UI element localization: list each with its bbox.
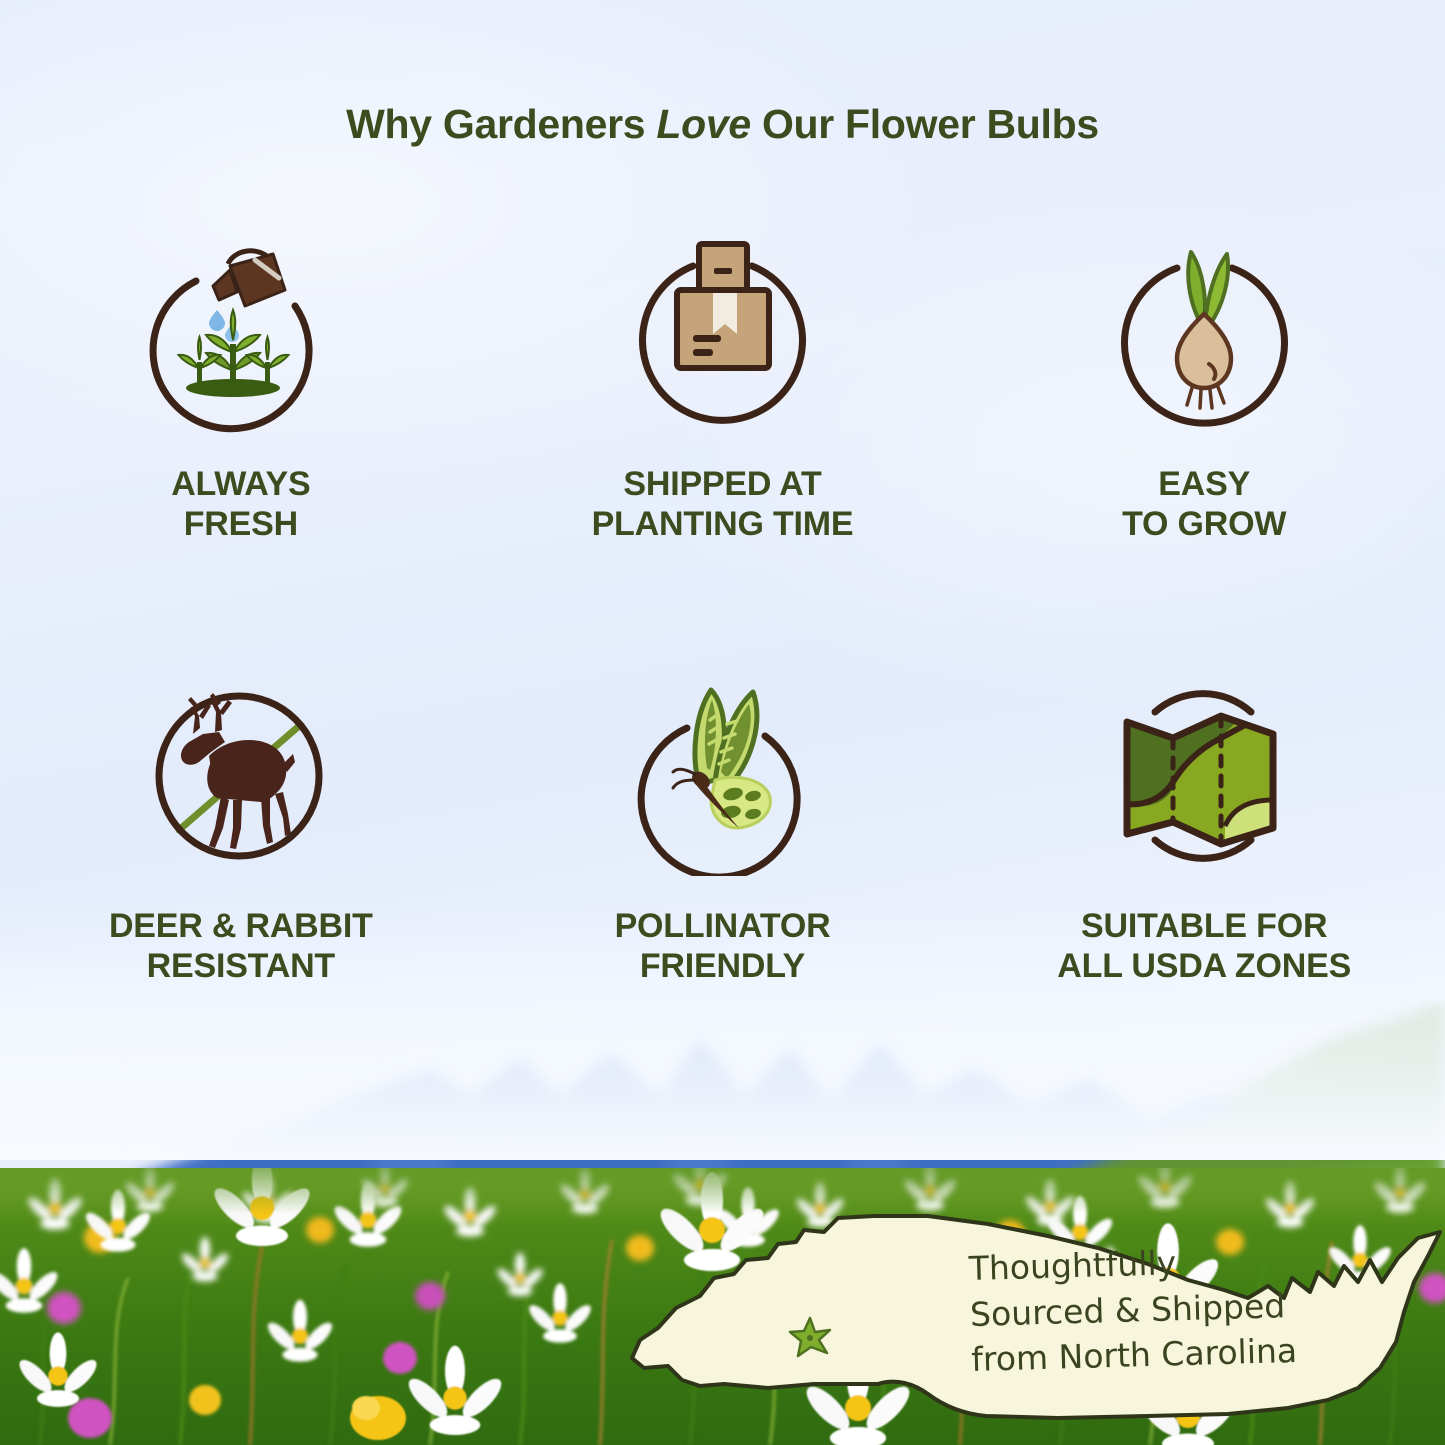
no-deer-icon — [133, 676, 348, 876]
benefit-label: ALWAYS FRESH — [171, 464, 310, 544]
benefit-label: DEER & RABBIT RESISTANT — [109, 906, 373, 986]
benefits-row-top: ALWAYS FRESH — [0, 236, 1445, 544]
benefit-label: SUITABLE FOR ALL USDA ZONES — [1057, 906, 1351, 986]
benefit-item-suitable-usda-zones: SUITABLE FOR ALL USDA ZONES — [963, 676, 1445, 986]
banner-text: Thoughtfully Sourced & Shipped from Nort… — [968, 1234, 1402, 1383]
north-carolina-banner: Thoughtfully Sourced & Shipped from Nort… — [628, 1208, 1445, 1445]
benefits-row-bottom: DEER & RABBIT RESISTANT — [0, 676, 1445, 986]
headline-part-1: Why Gardeners — [346, 101, 656, 147]
benefit-label: EASY TO GROW — [1122, 464, 1286, 544]
watering-can-plants-icon — [133, 236, 348, 436]
headline-part-2: Our Flower Bulbs — [751, 101, 1099, 147]
page-title: Why Gardeners Love Our Flower Bulbs — [0, 101, 1445, 148]
benefits-grid: ALWAYS FRESH — [0, 236, 1445, 986]
benefit-item-deer-rabbit-resistant: DEER & RABBIT RESISTANT — [0, 676, 482, 986]
headline-emphasis: Love — [656, 101, 751, 147]
sprouting-bulb-icon — [1097, 236, 1312, 436]
shipping-box-icon — [615, 236, 830, 436]
promo-poster: Why Gardeners Love Our Flower Bulbs — [0, 0, 1445, 1445]
benefit-item-easy-to-grow: EASY TO GROW — [963, 236, 1445, 544]
benefit-label: SHIPPED AT PLANTING TIME — [592, 464, 854, 544]
folded-map-icon — [1097, 676, 1312, 876]
benefit-item-shipped-at-planting-time: SHIPPED AT PLANTING TIME — [482, 236, 964, 544]
benefit-item-always-fresh: ALWAYS FRESH — [0, 236, 482, 544]
benefit-label: POLLINATOR FRIENDLY — [615, 906, 831, 986]
benefit-item-pollinator-friendly: POLLINATOR FRIENDLY — [482, 676, 964, 986]
butterfly-icon — [615, 676, 830, 876]
